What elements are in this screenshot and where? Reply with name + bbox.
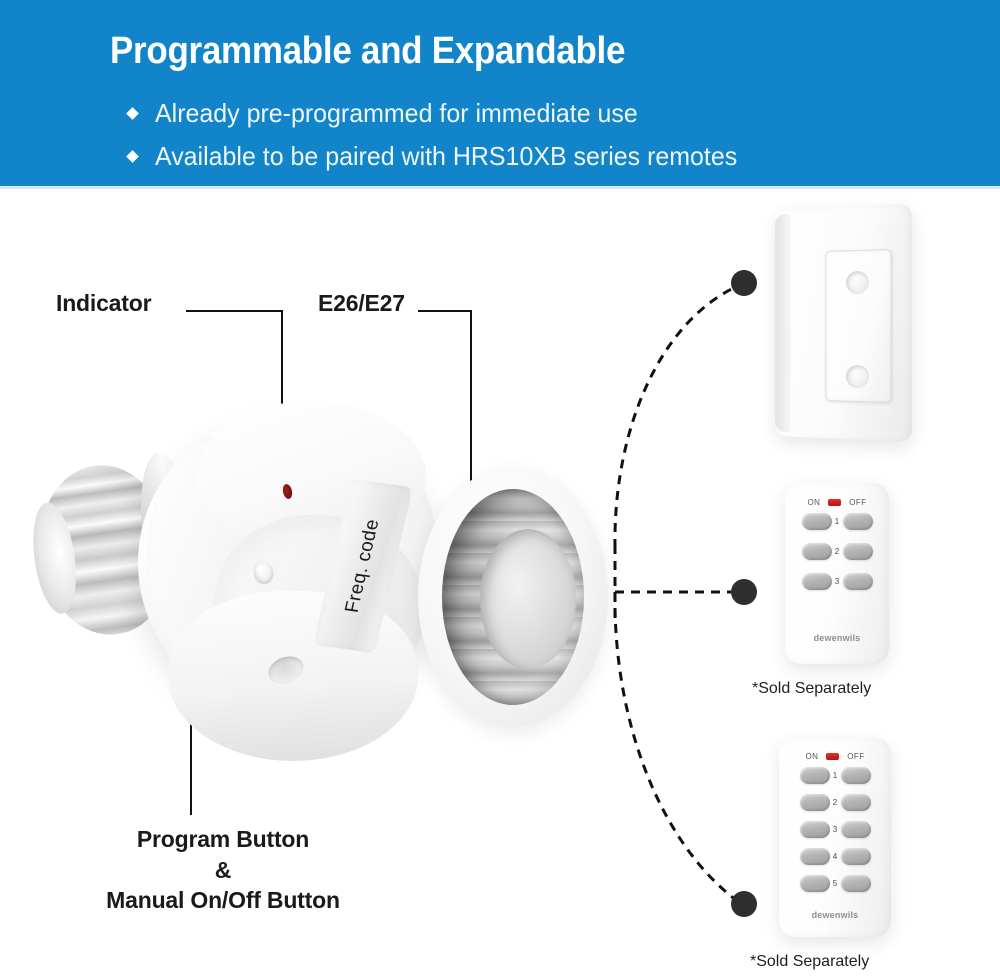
remote3-channel-number-3: 3 [832,577,843,586]
connector-branch-wall-switch [615,285,740,548]
remote5-channel-row-5: 5 [779,875,891,892]
remote5-channel-row-2: 2 [779,794,891,811]
diamond-bullet-icon [126,107,139,120]
remote5-off-button-4[interactable] [841,848,871,865]
remote5-channel-row-3: 3 [779,821,891,838]
remote5-off-button-5[interactable] [841,875,871,892]
socket-center-contact [480,529,576,669]
remote5-channel-number-5: 5 [830,879,841,888]
remote3-on-button-3[interactable] [802,573,832,590]
banner-bullet-2-text: Available to be paired with HRS10XB seri… [155,141,737,172]
remote3-off-button-1[interactable] [843,513,873,530]
wall-switch-on-dimple[interactable] [846,271,869,294]
remote3-channel-row-2: 2 [785,543,889,560]
remote3-on-button-1[interactable] [802,513,832,530]
callout-program-line1: Program Button [28,824,418,855]
banner-title: Programmable and Expandable [110,30,625,73]
connector-dot-remote-3 [731,579,757,605]
remote5-on-button-5[interactable] [800,875,830,892]
wall-switch-off-dimple[interactable] [846,365,869,388]
remote3-off-button-3[interactable] [843,573,873,590]
remote5-channel-row-1: 1 [779,767,891,784]
header-banner: Programmable and Expandable Already pre-… [0,0,1000,186]
accessory-remote-3-channel[interactable]: ON OFF 1 2 3 dewenwils [785,483,889,664]
banner-bottom-edge [0,186,1000,189]
remote3-off-button-2[interactable] [843,543,873,560]
sold-separately-note-remote-5: *Sold Separately [750,953,869,971]
connector-branch-remote-5 [615,592,740,903]
freq-code-sticker-text: Freq. code [341,518,384,614]
remote5-on-button-3[interactable] [800,821,830,838]
remote5-channel-row-4: 4 [779,848,891,865]
sold-separately-note-remote-3: *Sold Separately [752,680,871,698]
e26-e27-socket-opening [418,467,608,727]
callout-program-line3: Manual On/Off Button [28,885,418,916]
wall-switch-plate-edge [775,214,791,433]
remote5-off-button-2[interactable] [841,794,871,811]
remote3-channel-row-1: 1 [785,513,889,530]
remote5-on-button-4[interactable] [800,848,830,865]
product-light-socket-adapter: Freq. code [18,395,618,815]
remote3-channel-number-1: 1 [832,517,843,526]
banner-bullet-1-text: Already pre-programmed for immediate use [155,98,638,129]
remote5-channel-number-4: 4 [830,852,841,861]
leader-line-e26-horizontal [418,310,472,312]
remote3-channel-row-3: 3 [785,573,889,590]
remote3-on-label: ON [807,498,820,507]
accessory-wall-switch-remote[interactable] [772,207,912,439]
remote3-on-button-2[interactable] [802,543,832,560]
banner-bullet-1: Already pre-programmed for immediate use [128,98,658,129]
remote3-off-label: OFF [849,498,866,507]
remote3-header-row: ON OFF [785,498,889,507]
callout-label-program-button: Program Button & Manual On/Off Button [28,824,418,916]
infographic-page: Programmable and Expandable Already pre-… [0,0,1000,976]
remote3-status-led [828,499,841,506]
diamond-bullet-icon [126,150,139,163]
remote5-on-button-1[interactable] [800,767,830,784]
remote5-header-row: ON OFF [779,752,891,761]
remote3-brand-logo: dewenwils [785,633,889,643]
remote5-on-button-2[interactable] [800,794,830,811]
remote5-channel-number-3: 3 [830,825,841,834]
remote5-off-button-3[interactable] [841,821,871,838]
remote5-status-led [826,753,839,760]
remote3-channel-number-2: 2 [832,547,843,556]
remote5-channel-number-2: 2 [830,798,841,807]
remote5-brand-logo: dewenwils [779,910,891,920]
remote5-off-label: OFF [847,752,864,761]
callout-program-line2: & [28,855,418,886]
connector-dot-wall-switch [731,270,757,296]
remote5-on-label: ON [805,752,818,761]
leader-line-indicator-horizontal [186,310,283,312]
banner-bullet-2: Available to be paired with HRS10XB seri… [128,141,762,172]
remote5-off-button-1[interactable] [841,767,871,784]
connector-dot-remote-5 [731,891,757,917]
callout-label-indicator: Indicator [56,290,151,317]
callout-label-e26-e27: E26/E27 [318,290,405,317]
remote5-channel-number-1: 1 [830,771,841,780]
accessory-remote-5-channel[interactable]: ON OFF 1 2 3 4 5 dewenwils [779,738,891,937]
